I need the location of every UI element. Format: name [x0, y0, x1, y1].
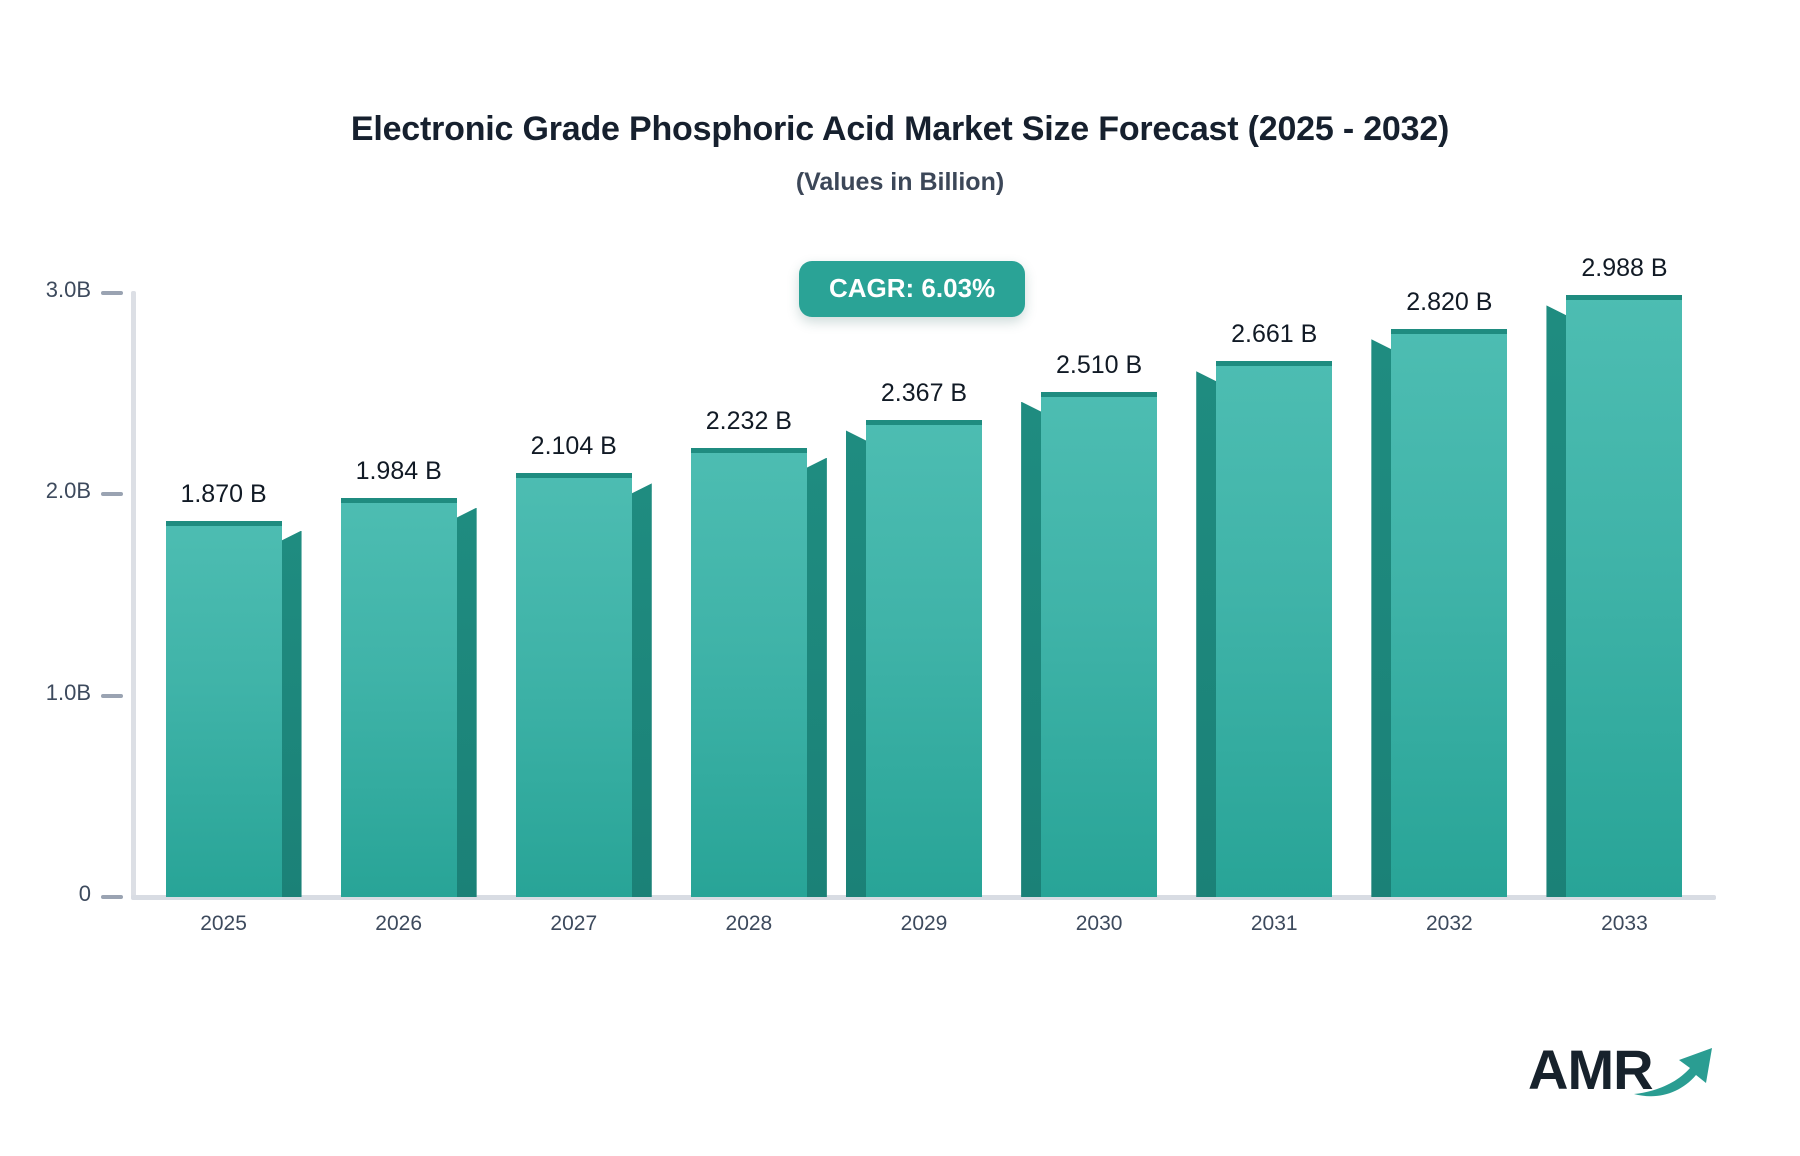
bar-top-cap	[166, 521, 282, 526]
bar-top-cap	[1041, 392, 1157, 397]
bar-front-face	[166, 521, 282, 897]
bar[interactable]: 2.232 B	[691, 448, 807, 897]
bar-top-cap	[516, 473, 632, 478]
bar[interactable]: 2.367 B	[866, 420, 982, 897]
plot-area: 3.0B2.0B1.0B0 1.870 B1.984 B2.104 B2.232…	[0, 0, 1800, 1156]
bar[interactable]: 2.104 B	[516, 473, 632, 897]
y-axis-tick-label: 1.0B	[46, 680, 91, 706]
bar-value-label: 2.104 B	[531, 432, 617, 461]
bar-top-cap	[1566, 295, 1682, 300]
bar[interactable]: 2.510 B	[1041, 392, 1157, 897]
bar-top-cap	[1391, 329, 1507, 334]
bar-value-label: 1.870 B	[180, 480, 266, 509]
x-axis-label: 2031	[1251, 912, 1298, 936]
chart-container: Electronic Grade Phosphoric Acid Market …	[0, 0, 1800, 1156]
bar-value-label: 2.820 B	[1406, 288, 1492, 317]
bar-side-face	[632, 483, 652, 897]
bar-top-cap	[866, 420, 982, 425]
bar[interactable]: 2.661 B	[1216, 361, 1332, 897]
bar-front-face	[1216, 361, 1332, 897]
bar[interactable]: 2.988 B	[1566, 295, 1682, 897]
bar-front-face	[516, 473, 632, 897]
bar-value-label: 2.661 B	[1231, 320, 1317, 349]
bar-front-face	[866, 420, 982, 897]
y-axis-tick-mark	[101, 694, 123, 698]
x-axis-label: 2030	[1076, 912, 1123, 936]
amr-logo: AMR	[1528, 1036, 1718, 1116]
bar-side-face	[1371, 339, 1391, 897]
bar-top-cap	[341, 498, 457, 503]
x-axis-label: 2029	[901, 912, 948, 936]
x-axis-label: 2027	[550, 912, 597, 936]
growth-arrow-icon	[1632, 1042, 1718, 1102]
bar-front-face	[341, 498, 457, 897]
y-axis-tick-label: 0	[79, 881, 91, 907]
bar-side-face	[1546, 305, 1566, 897]
bar-side-face	[457, 508, 477, 897]
bar-value-label: 2.510 B	[1056, 351, 1142, 380]
x-axis-label: 2025	[200, 912, 247, 936]
bar-front-face	[1041, 392, 1157, 897]
bar-side-face	[807, 458, 827, 897]
bar-front-face	[691, 448, 807, 897]
y-axis-tick-label: 2.0B	[46, 478, 91, 504]
bar-value-label: 2.232 B	[706, 407, 792, 436]
y-axis-tick-mark	[101, 291, 123, 295]
y-axis-tick-mark	[101, 492, 123, 496]
x-axis-label: 2026	[375, 912, 422, 936]
bar-value-label: 2.367 B	[881, 379, 967, 408]
x-axis-label: 2028	[726, 912, 773, 936]
bar-front-face	[1391, 329, 1507, 897]
bar-side-face	[1196, 371, 1216, 897]
x-axis-label: 2033	[1601, 912, 1648, 936]
bar-top-cap	[691, 448, 807, 453]
bar[interactable]: 2.820 B	[1391, 329, 1507, 897]
y-axis-tick-mark	[101, 895, 123, 899]
y-axis-tick-label: 3.0B	[46, 277, 91, 303]
bar-value-label: 1.984 B	[356, 457, 442, 486]
bar-side-face	[282, 531, 302, 897]
x-axis-label: 2032	[1426, 912, 1473, 936]
bar-top-cap	[1216, 361, 1332, 366]
bar-side-face	[1021, 402, 1041, 897]
bar-side-face	[846, 430, 866, 897]
y-axis-line	[131, 291, 136, 899]
bar[interactable]: 1.984 B	[341, 498, 457, 897]
bar-front-face	[1566, 295, 1682, 897]
bar[interactable]: 1.870 B	[166, 521, 282, 897]
bar-value-label: 2.988 B	[1581, 254, 1667, 283]
